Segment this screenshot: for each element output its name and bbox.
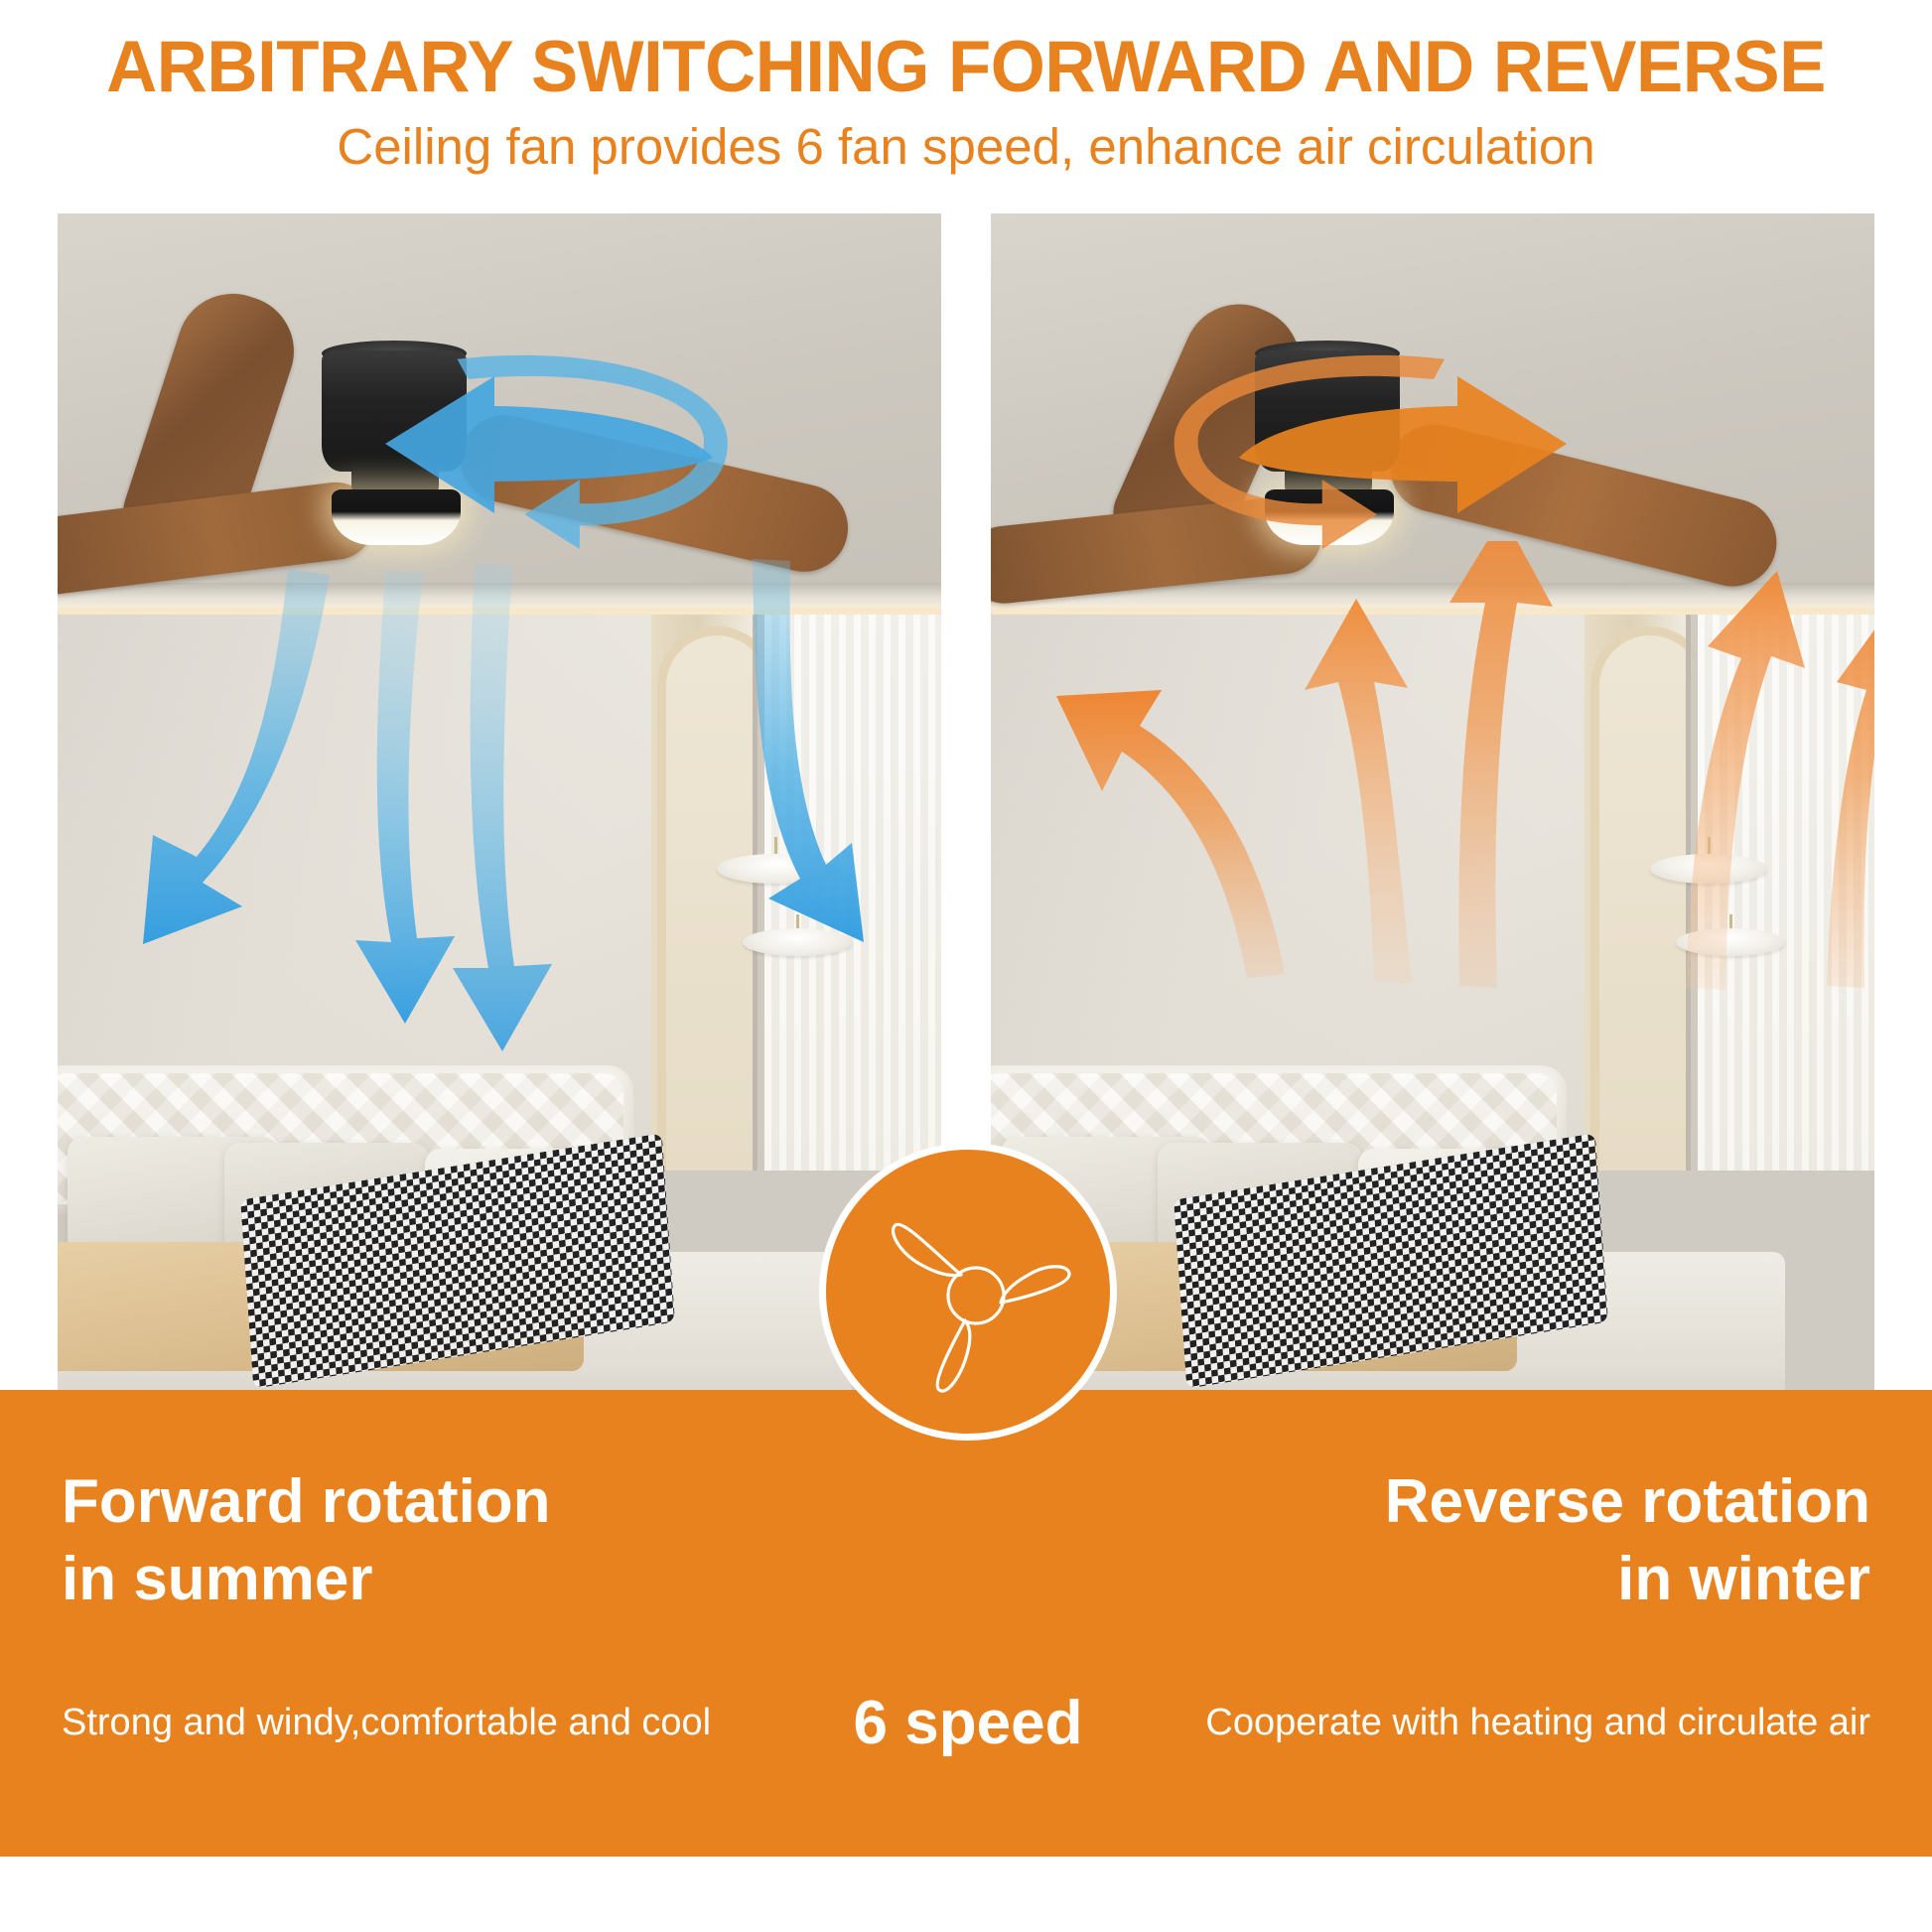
page-title: ARBITRARY SWITCHING FORWARD AND REVERSE — [29, 26, 1903, 108]
page-subtitle: Ceiling fan provides 6 fan speed, enhanc… — [0, 117, 1932, 176]
fan-blade-icon — [874, 1193, 1078, 1398]
forward-rotation-title: Forward rotation in summer — [62, 1463, 551, 1618]
footer-bar: Forward rotation in summer Strong and wi… — [0, 1390, 1932, 1857]
speed-badge-circle — [819, 1143, 1117, 1441]
reverse-rotation-arrow — [1130, 333, 1745, 571]
header: ARBITRARY SWITCHING FORWARD AND REVERSE … — [0, 0, 1932, 213]
photo-panel-forward — [58, 213, 941, 1479]
airflow-arrows-down — [58, 541, 941, 1296]
forward-rotation-subtitle: Strong and windy,comfortable and cool — [62, 1702, 711, 1744]
forward-rotation-arrow — [197, 333, 812, 571]
airflow-arrows-up — [991, 541, 1874, 1296]
photo-panel-reverse — [991, 213, 1874, 1479]
infographic-page: ARBITRARY SWITCHING FORWARD AND REVERSE … — [0, 0, 1932, 1932]
speed-label: 6 speed — [819, 1688, 1117, 1758]
reverse-rotation-title: Reverse rotation in winter — [1385, 1463, 1870, 1618]
reverse-rotation-subtitle: Cooperate with heating and circulate air — [1205, 1702, 1870, 1744]
